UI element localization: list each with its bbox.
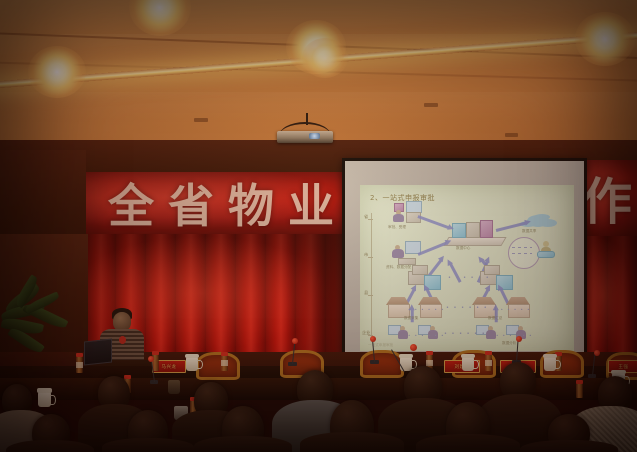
axis-label-province: 省 xyxy=(364,214,368,220)
slide-arrow xyxy=(499,288,509,305)
slide-dots-bottom-c: • • • • • • xyxy=(444,331,486,337)
slide-dots-mid: • • • • • • xyxy=(448,275,490,281)
callout-line xyxy=(512,247,532,248)
ceiling-vent xyxy=(194,118,208,122)
slide-label-distribute: 资料、数据分配 xyxy=(386,265,411,270)
event-banner: 全省物业 xyxy=(86,172,359,234)
slide-arrow xyxy=(418,215,451,229)
axis-label-enterprise: 企业 xyxy=(362,330,370,336)
axis-label-city: 市 xyxy=(364,252,368,258)
slide-label-datacenter: 数据中心 xyxy=(456,246,470,251)
slide-central-platform xyxy=(443,237,506,246)
presenter-laptop xyxy=(84,339,112,366)
ceiling-vent xyxy=(424,103,438,107)
slide-dots-bottom-r: • • • • • • xyxy=(496,333,533,338)
callout-line xyxy=(512,253,532,254)
banquet-chair xyxy=(360,350,404,378)
slide-label-collect-l: 数据采集 xyxy=(404,316,418,321)
ceiling-light-5 xyxy=(302,38,348,78)
potted-palm xyxy=(0,258,80,368)
axis-tick xyxy=(368,295,373,296)
projector-body xyxy=(277,131,333,143)
banner-text: 全省物业 xyxy=(86,172,359,234)
hierarchy-axis xyxy=(371,213,372,339)
ceiling-vent xyxy=(505,133,518,137)
axis-tick xyxy=(368,257,373,258)
slide-server-gray xyxy=(466,222,480,238)
slide-label-cloud: 数据共享 xyxy=(522,229,536,234)
slide-dots-houses-c: • • • • • • xyxy=(446,305,488,311)
projection-screen: 2、一站式申报审批 省 市 县 企业 审批、受理 xyxy=(345,161,584,359)
slide-dots-bottom-l: • • • • • • xyxy=(408,333,445,338)
presenter-badge xyxy=(119,336,126,344)
axis-tick xyxy=(368,219,373,220)
slide-title: 2、一站式申报审批 xyxy=(370,193,435,203)
slide-server-magenta xyxy=(480,220,493,238)
projector-lens xyxy=(309,133,320,139)
slide-arrow xyxy=(418,241,449,255)
slide-label-analysis: 数据分析 xyxy=(502,341,516,346)
slide-label-approval: 审批、受理 xyxy=(388,225,406,230)
slide-label-collect-r: 数据汇总 xyxy=(488,316,502,321)
projected-slide: 2、一站式申报审批 省 市 县 企业 审批、受理 xyxy=(360,185,574,351)
conference-hall-photo: 全省物业 作 2、一站式申报审批 省 市 xyxy=(0,0,637,452)
slide-dots-houses-r: • • • • • • xyxy=(494,307,531,312)
axis-label-county: 县 xyxy=(364,290,368,296)
